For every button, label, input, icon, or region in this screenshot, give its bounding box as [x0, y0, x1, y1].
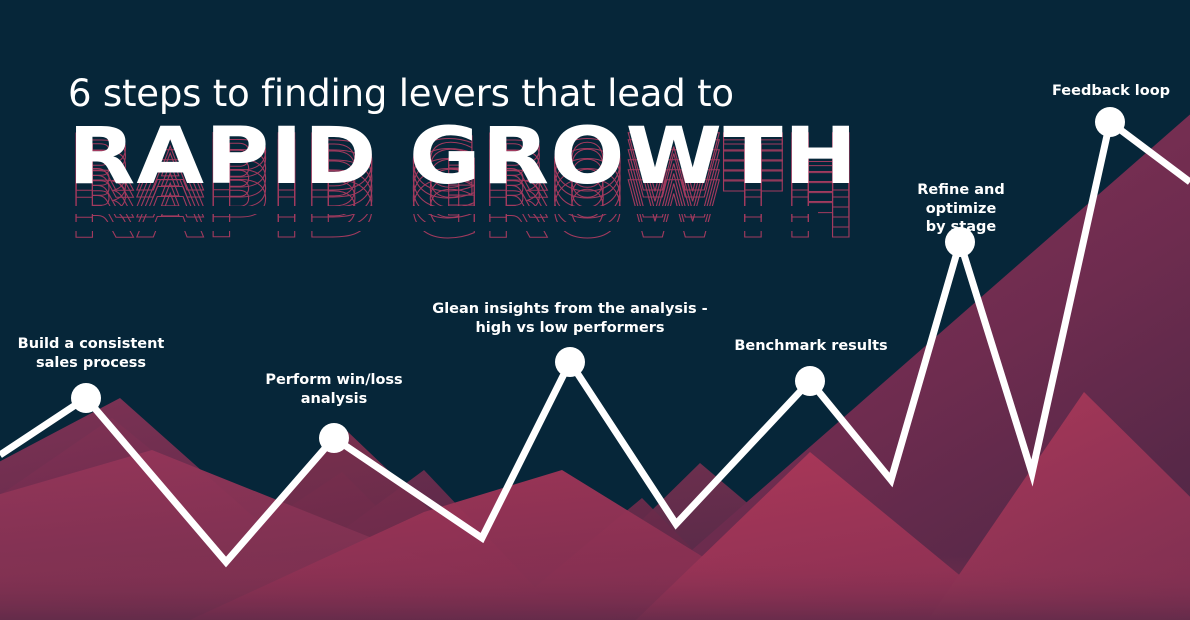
step-marker-2[interactable]: [319, 423, 349, 453]
step-marker-4[interactable]: [795, 366, 825, 396]
step-label-win-loss-analysis[interactable]: Perform win/loss analysis: [258, 371, 410, 408]
step-marker-3[interactable]: [555, 347, 585, 377]
ground-haze: [0, 556, 1190, 620]
step-label-glean-insights[interactable]: Glean insights from the analysis - high …: [418, 300, 722, 337]
step-marker-6[interactable]: [1095, 107, 1125, 137]
step-label-feedback-loop[interactable]: Feedback loop: [1043, 82, 1179, 101]
step-marker-1[interactable]: [71, 383, 101, 413]
step-label-build-sales-process[interactable]: Build a consistent sales process: [16, 335, 166, 372]
step-label-refine-optimize[interactable]: Refine and optimize by stage: [880, 181, 1042, 237]
step-label-benchmark-results[interactable]: Benchmark results: [730, 337, 892, 356]
infographic-canvas: 6 steps to finding levers that lead to R…: [0, 0, 1190, 620]
